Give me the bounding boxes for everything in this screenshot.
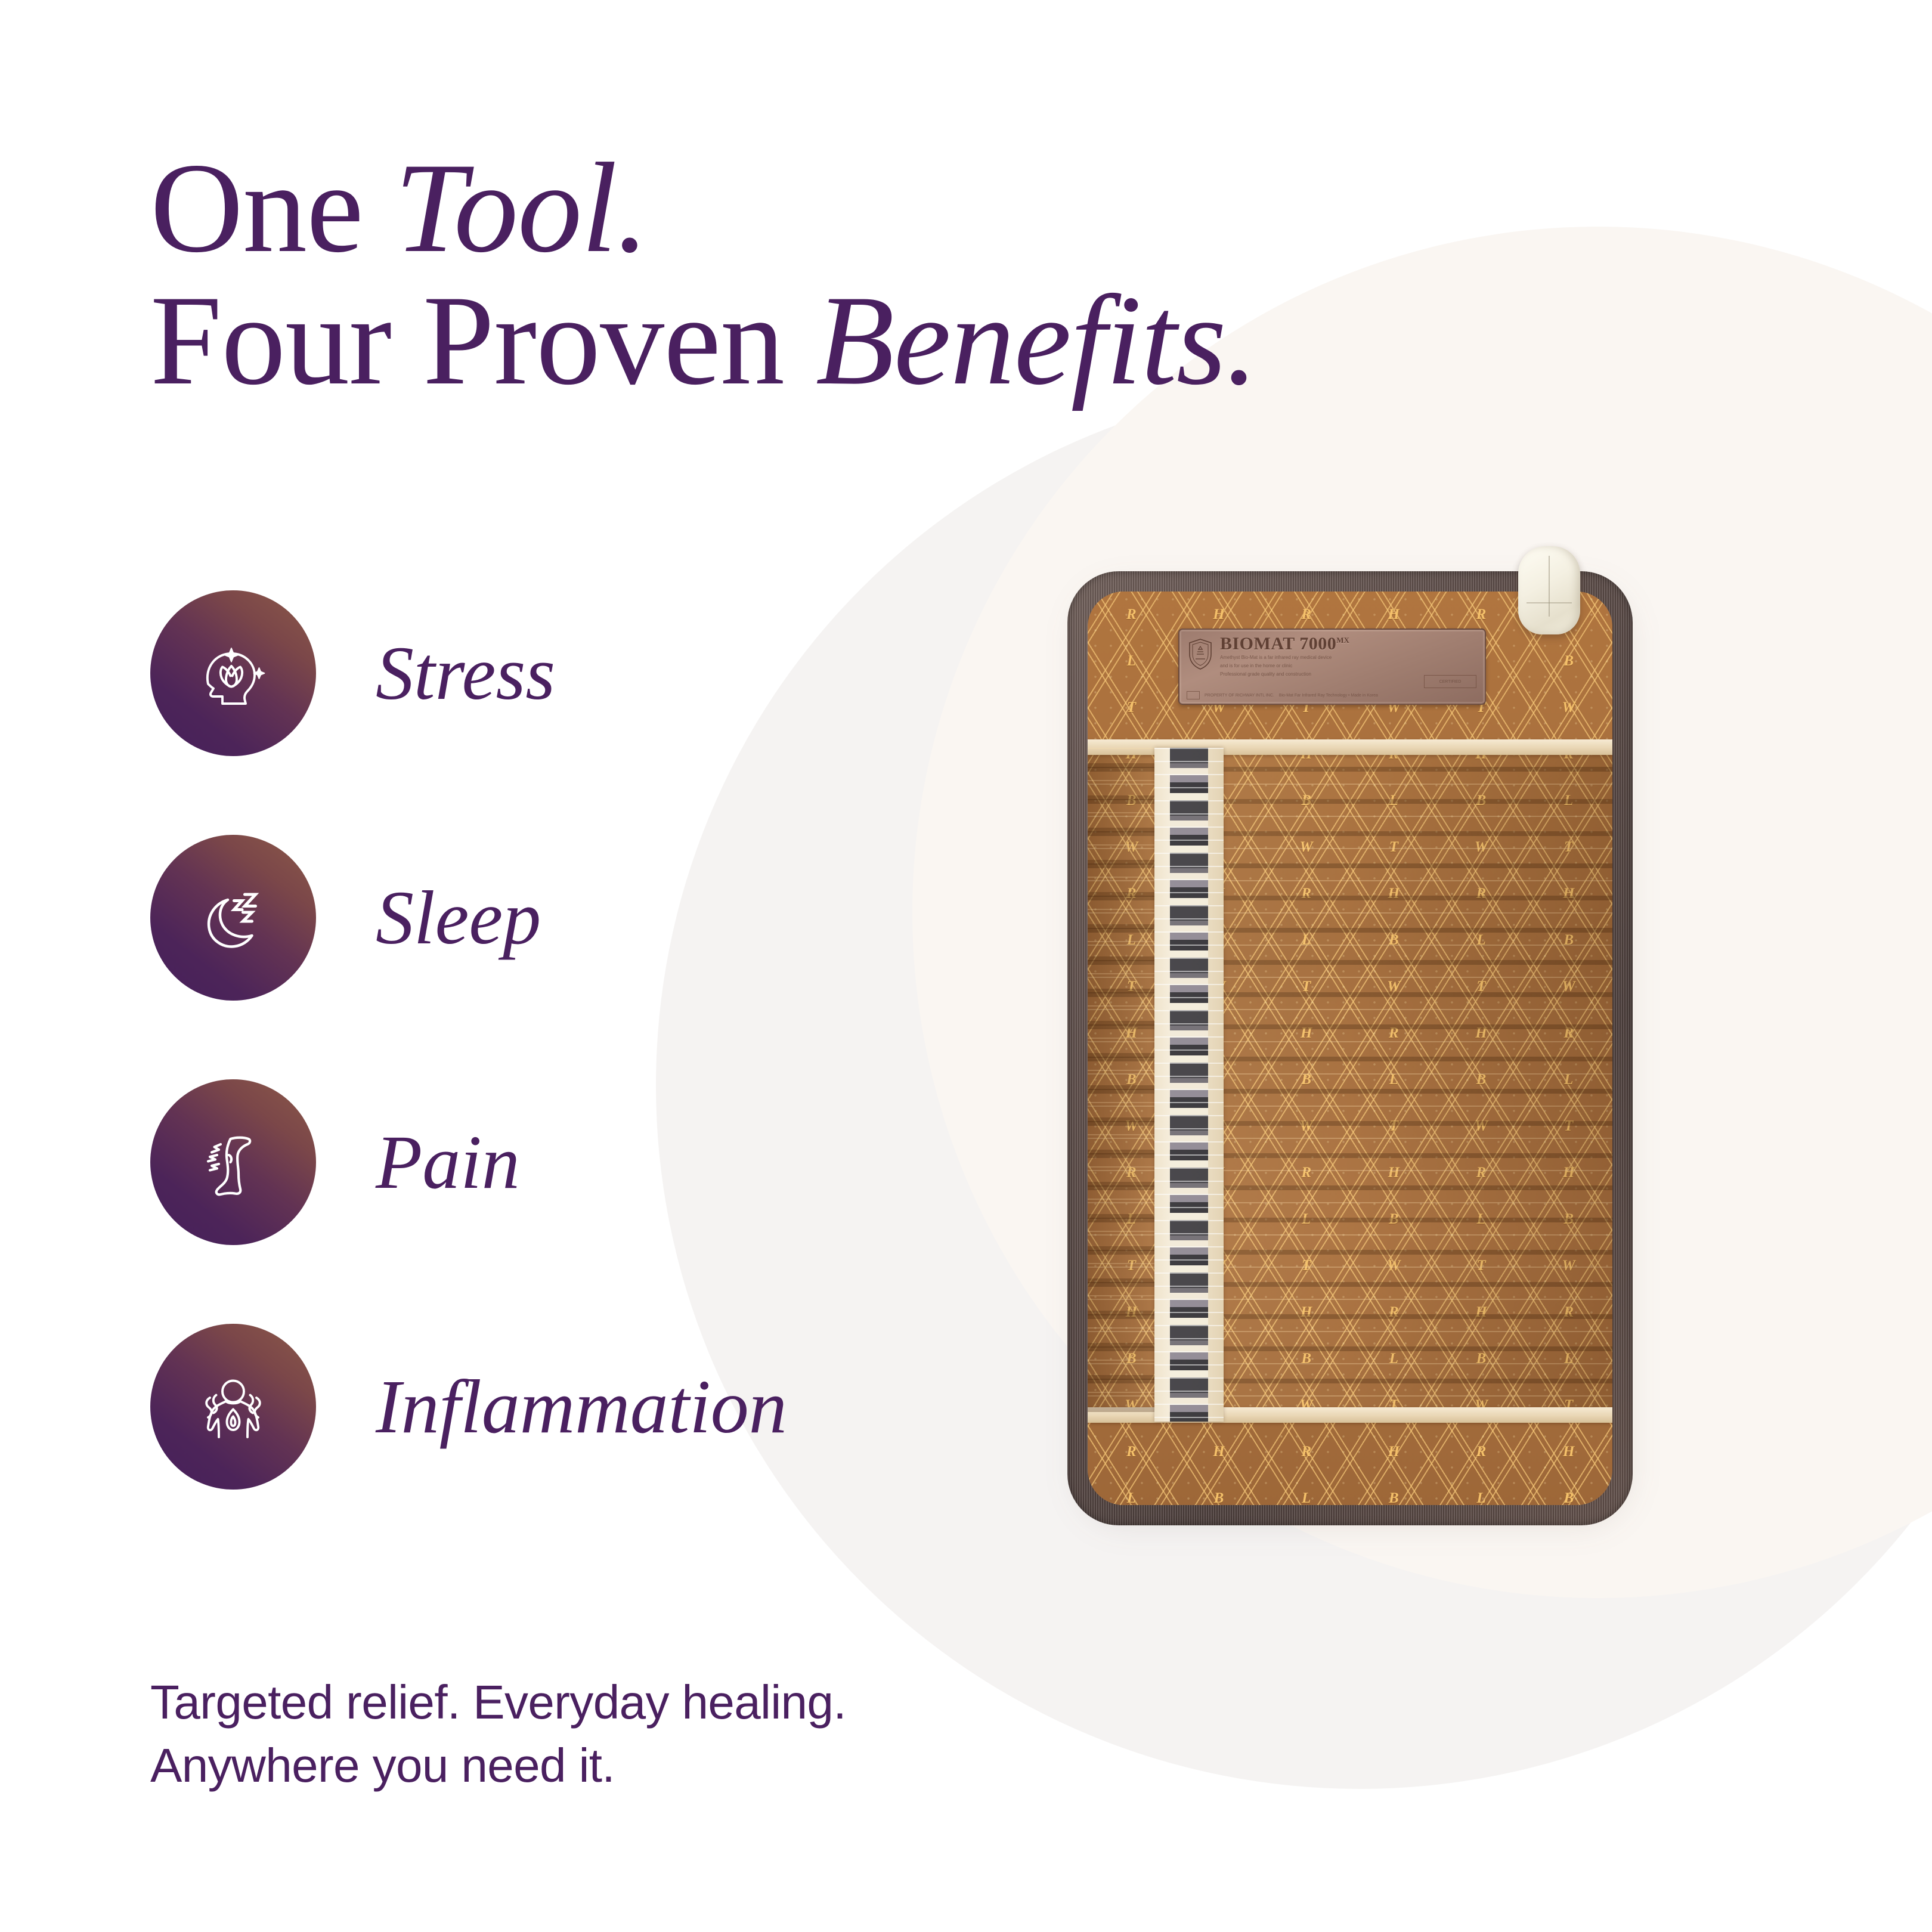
benefit-item-sleep[interactable]: Sleep <box>150 835 787 1001</box>
benefit-item-stress[interactable]: Stress <box>150 590 787 756</box>
product-image-biomat: RHRHRHLBLBLBTWTWTWHRHRHRBLBLBLWTWTWTRHRH… <box>1067 571 1633 1525</box>
benefit-icon-circle-stress <box>150 590 316 756</box>
mat-outer-border: RHRHRHLBLBLBTWTWTWHRHRHRBLBLBLWTWTWTRHRH… <box>1067 571 1633 1525</box>
benefit-icon-circle-inflammation <box>150 1324 316 1490</box>
product-label-title-main: BIOMAT 7000 <box>1220 634 1336 654</box>
product-label-title: BIOMAT 7000MX <box>1220 635 1478 653</box>
benefit-label-pain: Pain <box>376 1124 520 1200</box>
body-flame-icon <box>188 1362 278 1451</box>
headline-line-2-plain: Four Proven <box>150 269 816 411</box>
headline-line-1-emphasis: Tool. <box>395 137 648 279</box>
benefit-label-stress: Stress <box>376 635 555 711</box>
head-lotus-icon <box>188 628 278 718</box>
product-label-foot-left: PROPERTY OF RICHWAY INTL INC. <box>1205 693 1274 698</box>
product-label-sub-1: Amethyst Bio-Mat is a far infrared ray m… <box>1220 655 1478 661</box>
headline-line-2-emphasis: Benefits. <box>816 269 1258 411</box>
shield-logo-icon <box>1187 637 1214 671</box>
mat-fabric-body: RHRHRHLBLBLBTWTWTWHRHRHRBLBLBLWTWTWTRHRH… <box>1088 592 1612 1505</box>
tagline-line-1: Targeted relief. Everyday healing. <box>150 1671 846 1734</box>
tagline: Targeted relief. Everyday healing. Anywh… <box>150 1671 846 1797</box>
product-label-text: BIOMAT 7000MX Amethyst Bio-Mat is a far … <box>1220 635 1478 677</box>
leg-pain-icon <box>188 1117 278 1207</box>
benefits-list: Stress Sleep Pain <box>150 590 787 1490</box>
headline-line-1-plain: One <box>150 137 395 279</box>
label-mini-box-icon <box>1187 691 1200 699</box>
benefit-label-inflammation: Inflammation <box>376 1368 787 1445</box>
amethyst-stone-strip <box>1154 748 1224 1422</box>
power-connector-icon <box>1518 546 1580 634</box>
benefit-item-pain[interactable]: Pain <box>150 1079 787 1245</box>
product-label-foot-right: Bio-Mat Far Infrared Ray Technology • Ma… <box>1279 693 1378 698</box>
benefit-icon-circle-pain <box>150 1079 316 1245</box>
product-label-footer: PROPERTY OF RICHWAY INTL INC. Bio-Mat Fa… <box>1187 691 1478 699</box>
benefit-item-inflammation[interactable]: Inflammation <box>150 1324 787 1490</box>
mat-left-tube-column <box>1088 748 1154 1422</box>
product-label-title-sup: MX <box>1336 636 1349 645</box>
product-label-plate: BIOMAT 7000MX Amethyst Bio-Mat is a far … <box>1178 628 1486 705</box>
product-label-badge: CERTIFIED <box>1424 675 1476 688</box>
benefit-icon-circle-sleep <box>150 835 316 1001</box>
page-title: One Tool. Four Proven Benefits. <box>150 142 1522 407</box>
moon-zzz-icon <box>188 873 278 962</box>
headline-line-2: Four Proven Benefits. <box>150 274 1522 407</box>
product-label-sub-2: and is for use in the home or clinic <box>1220 663 1478 670</box>
tagline-line-2: Anywhere you need it. <box>150 1734 846 1797</box>
headline-line-1: One Tool. <box>150 142 1522 274</box>
benefit-label-sleep: Sleep <box>376 880 541 956</box>
